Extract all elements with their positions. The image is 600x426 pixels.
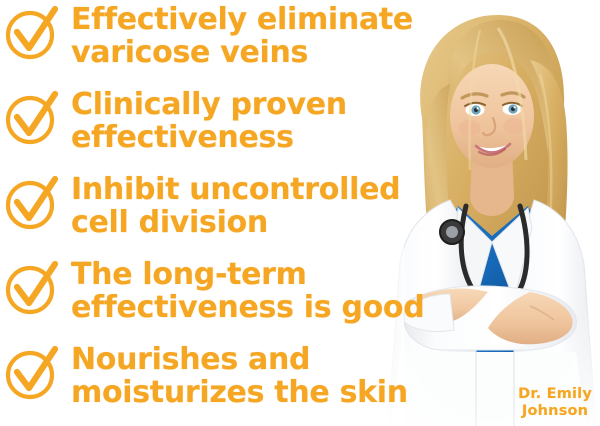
benefit-item: Clinically proven effectiveness [3,87,347,172]
benefit-label: The long-term effectiveness is good [71,258,424,324]
benefit-item: The long-term effectiveness is good [3,257,424,342]
benefit-label: Clinically proven effectiveness [71,88,347,154]
doctor-name-caption: Dr. Emily Johnson [518,386,592,420]
benefit-item: Effectively eliminate varicose veins [3,2,413,87]
circle-check-icon [3,4,61,62]
benefit-label: Inhibit uncontrolled cell division [71,173,400,239]
circle-check-icon [3,174,61,232]
poster-canvas: Effectively eliminate varicose veins Cli… [0,0,600,426]
benefit-label: Effectively eliminate varicose veins [71,3,413,69]
circle-check-icon [3,344,61,402]
benefit-label: Nourishes and moisturizes the skin [71,343,408,409]
benefit-item: Inhibit uncontrolled cell division [3,172,400,257]
circle-check-icon [3,89,61,147]
circle-check-icon [3,259,61,317]
benefits-list: Effectively eliminate varicose veins Cli… [0,0,600,426]
benefit-item: Nourishes and moisturizes the skin [3,342,408,426]
